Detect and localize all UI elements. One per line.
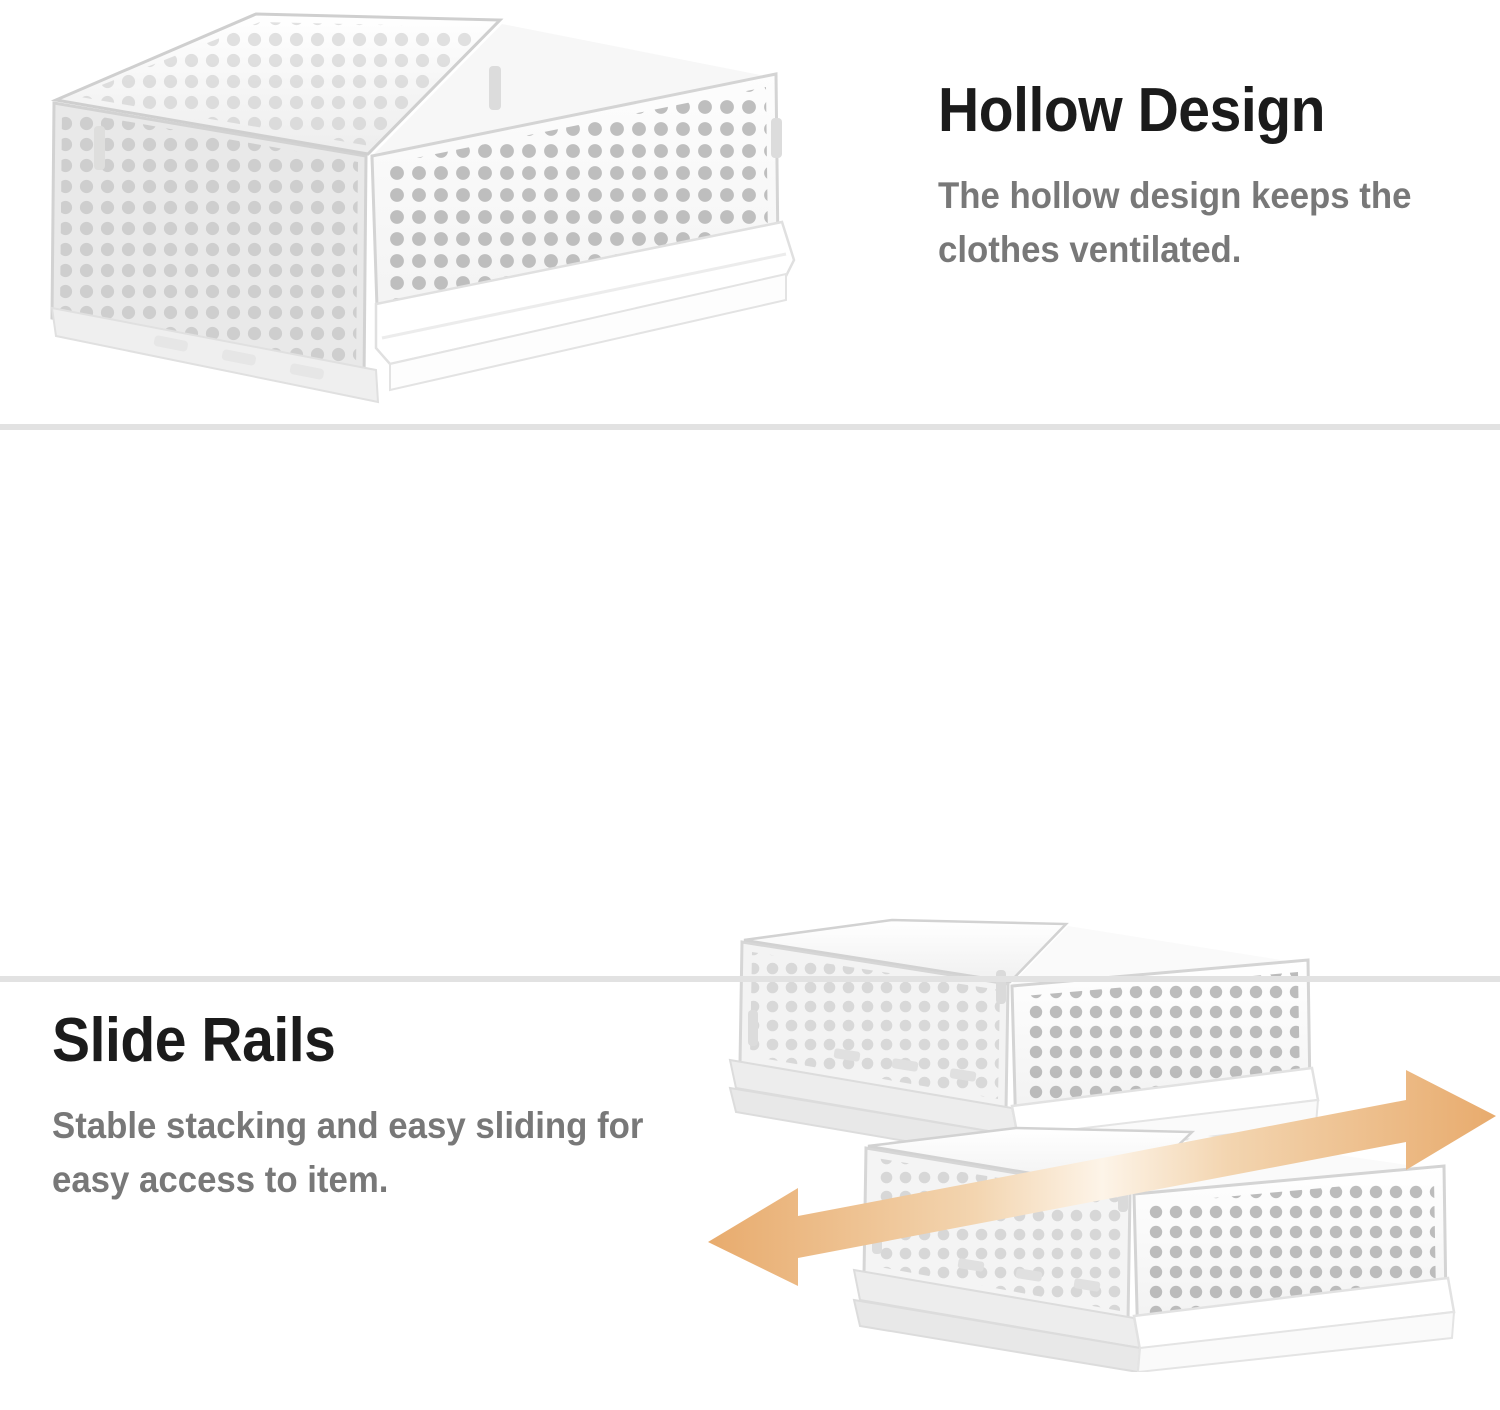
section-heading: Hollow Design: [938, 78, 1435, 143]
feature-section-slide-rails: Slide Rails Stable stacking and easy sli…: [0, 430, 1500, 978]
product-image-hollow-design: [34, 8, 824, 408]
section-subtext: The hollow design keeps the clothes vent…: [938, 169, 1446, 276]
product-feature-infographic: Hollow Design The hollow design keeps th…: [0, 0, 1500, 1410]
text-block-hollow-design: Hollow Design The hollow design keeps th…: [938, 78, 1478, 276]
feature-section-reinforced-snap: Reinforced Snap Reinforced buckles to in…: [0, 984, 1500, 1410]
feature-section-hollow-design: Hollow Design The hollow design keeps th…: [0, 0, 1500, 426]
section-divider: [0, 976, 1500, 982]
